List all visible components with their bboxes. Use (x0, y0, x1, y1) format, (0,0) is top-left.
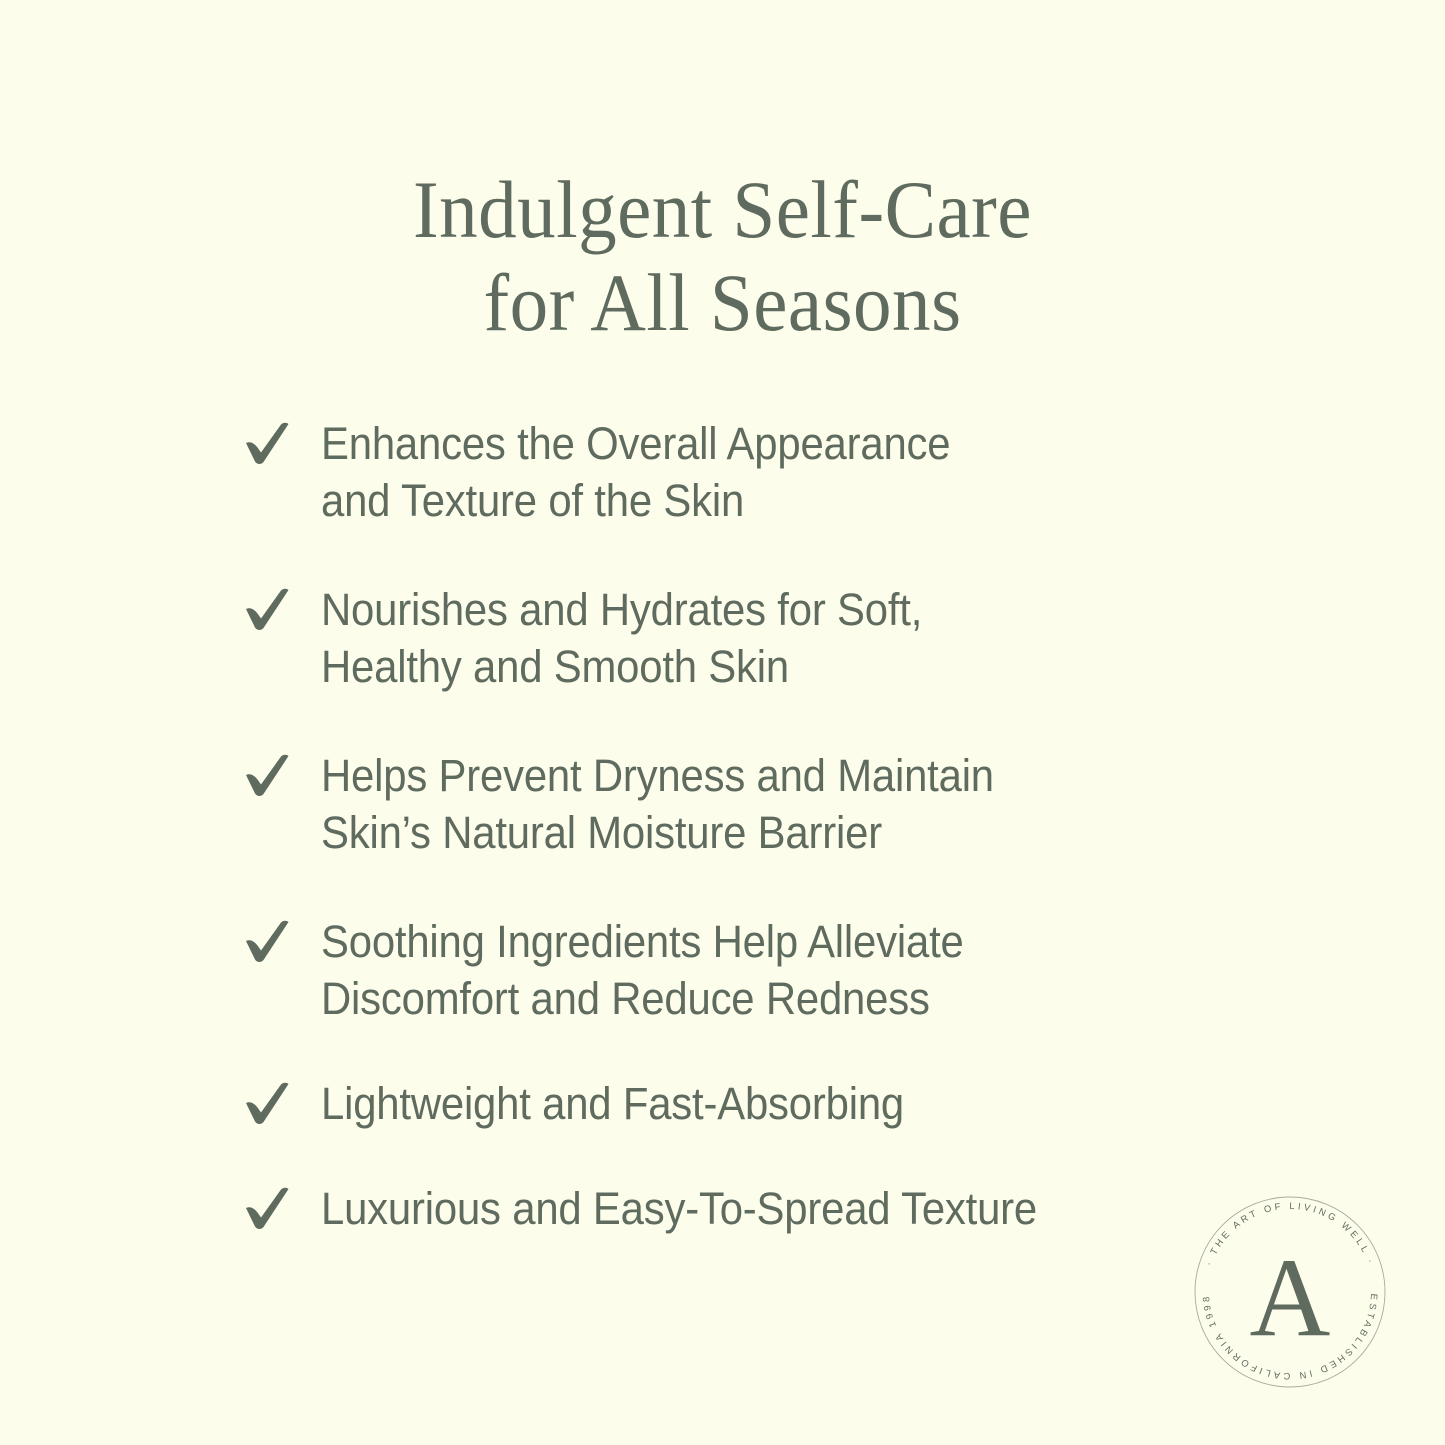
checkmark-icon (243, 747, 321, 797)
list-item-text: Lightweight and Fast-Absorbing (321, 1075, 1141, 1132)
list-item-line-1: Lightweight and Fast-Absorbing (321, 1078, 904, 1129)
benefits-list: Enhances the Overall Appearance and Text… (243, 415, 1203, 1285)
list-item-line-2: Healthy and Smooth Skin (321, 641, 789, 692)
list-item: Helps Prevent Dryness and Maintain Skin’… (243, 747, 1203, 861)
list-item: Luxurious and Easy-To-Spread Texture (243, 1180, 1203, 1237)
checkmark-icon (243, 581, 321, 631)
checkmark-icon (243, 913, 321, 963)
list-item-line-1: Luxurious and Easy-To-Spread Texture (321, 1183, 1037, 1234)
list-item: Nourishes and Hydrates for Soft, Healthy… (243, 581, 1203, 695)
badge-monogram-a: A (1250, 1236, 1331, 1360)
page-title-line-1: Indulgent Self-Care (43, 163, 1401, 256)
brand-badge: · THE ART OF LIVING WELL · ESTABLISHED I… (1186, 1188, 1394, 1396)
checkmark-icon (243, 1075, 321, 1125)
list-item-line-2: Skin’s Natural Moisture Barrier (321, 807, 882, 858)
list-item-text: Enhances the Overall Appearance and Text… (321, 415, 1141, 529)
list-item-text: Soothing Ingredients Help Alleviate Disc… (321, 913, 1141, 1027)
list-item: Enhances the Overall Appearance and Text… (243, 415, 1203, 529)
page-title: Indulgent Self-Care for All Seasons (0, 163, 1445, 349)
promo-poster: Indulgent Self-Care for All Seasons Enha… (0, 0, 1445, 1445)
list-item-line-1: Soothing Ingredients Help Alleviate (321, 916, 964, 967)
list-item: Lightweight and Fast-Absorbing (243, 1075, 1203, 1132)
list-item-line-1: Helps Prevent Dryness and Maintain (321, 750, 994, 801)
list-item-line-2: Discomfort and Reduce Redness (321, 973, 930, 1024)
list-item-text: Helps Prevent Dryness and Maintain Skin’… (321, 747, 1141, 861)
list-item: Soothing Ingredients Help Alleviate Disc… (243, 913, 1203, 1027)
checkmark-icon (243, 1180, 321, 1230)
list-item-line-1: Nourishes and Hydrates for Soft, (321, 584, 922, 635)
list-item-text: Luxurious and Easy-To-Spread Texture (321, 1180, 1141, 1237)
list-item-line-1: Enhances the Overall Appearance (321, 418, 950, 469)
list-item-text: Nourishes and Hydrates for Soft, Healthy… (321, 581, 1141, 695)
page-title-line-2: for All Seasons (43, 256, 1401, 349)
checkmark-icon (243, 415, 321, 465)
list-item-line-2: and Texture of the Skin (321, 475, 744, 526)
